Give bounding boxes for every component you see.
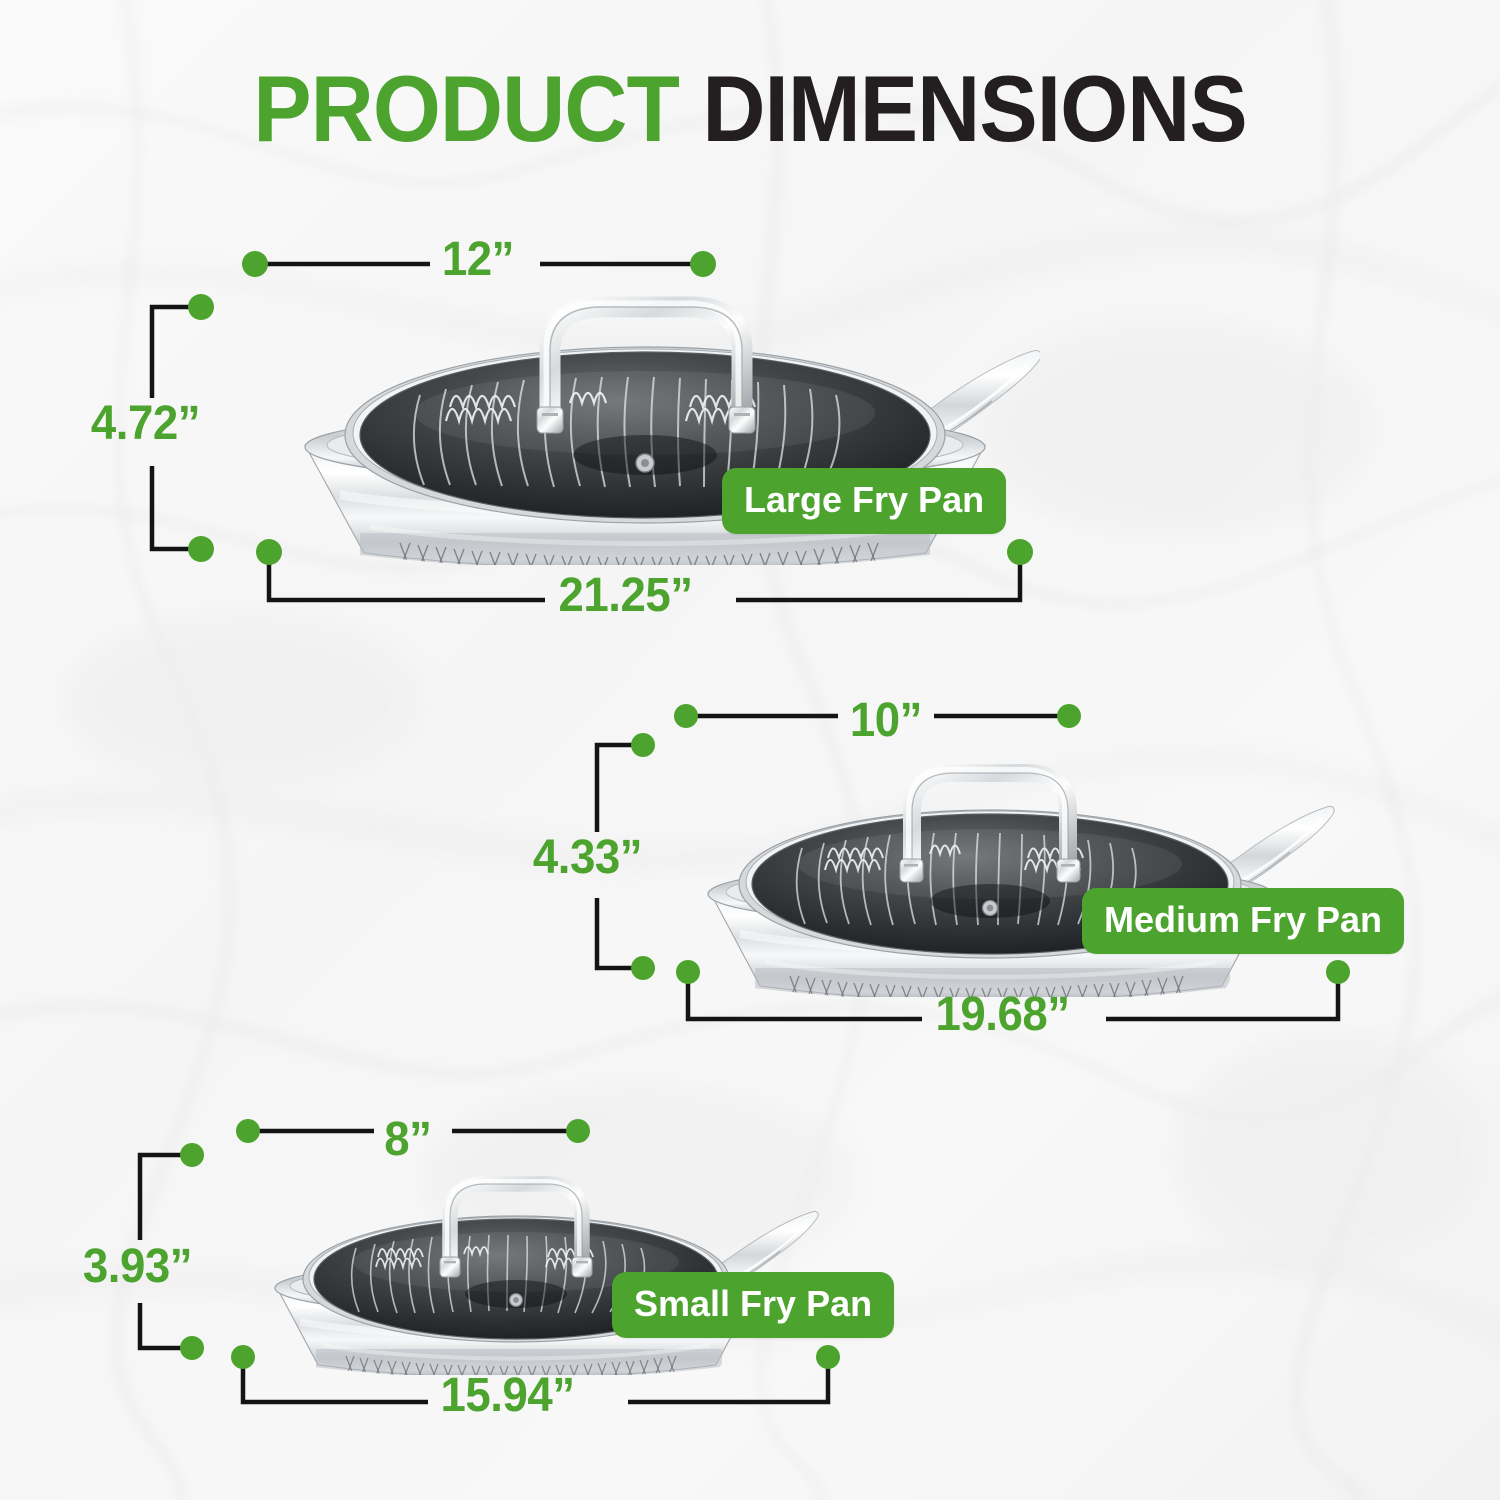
dimension-small-diameter: 8” <box>384 1116 431 1164</box>
title-word-dimensions: DIMENSIONS <box>702 56 1246 161</box>
dimension-large-diameter: 12” <box>442 236 514 284</box>
dimension-medium-diameter: 10” <box>850 697 922 745</box>
product-dimensions-infographic: PRODUCT DIMENSIONS <box>0 0 1500 1500</box>
dimension-large-height: 4.72” <box>91 400 200 448</box>
label-medium-fry-pan[interactable]: Medium Fry Pan <box>1082 888 1404 954</box>
dimension-medium-height: 4.33” <box>533 834 642 882</box>
medium-fry-pan-image <box>660 762 1360 997</box>
label-small-fry-pan[interactable]: Small Fry Pan <box>612 1272 894 1338</box>
dimension-medium-length: 19.68” <box>936 991 1070 1039</box>
dimension-small-length: 15.94” <box>441 1372 575 1420</box>
page-title: PRODUCT DIMENSIONS <box>53 62 1448 156</box>
label-large-fry-pan[interactable]: Large Fry Pan <box>722 468 1006 534</box>
dimension-large-length: 21.25” <box>559 572 693 620</box>
title-word-product: PRODUCT <box>253 56 679 161</box>
dimension-small-height: 3.93” <box>83 1243 192 1291</box>
